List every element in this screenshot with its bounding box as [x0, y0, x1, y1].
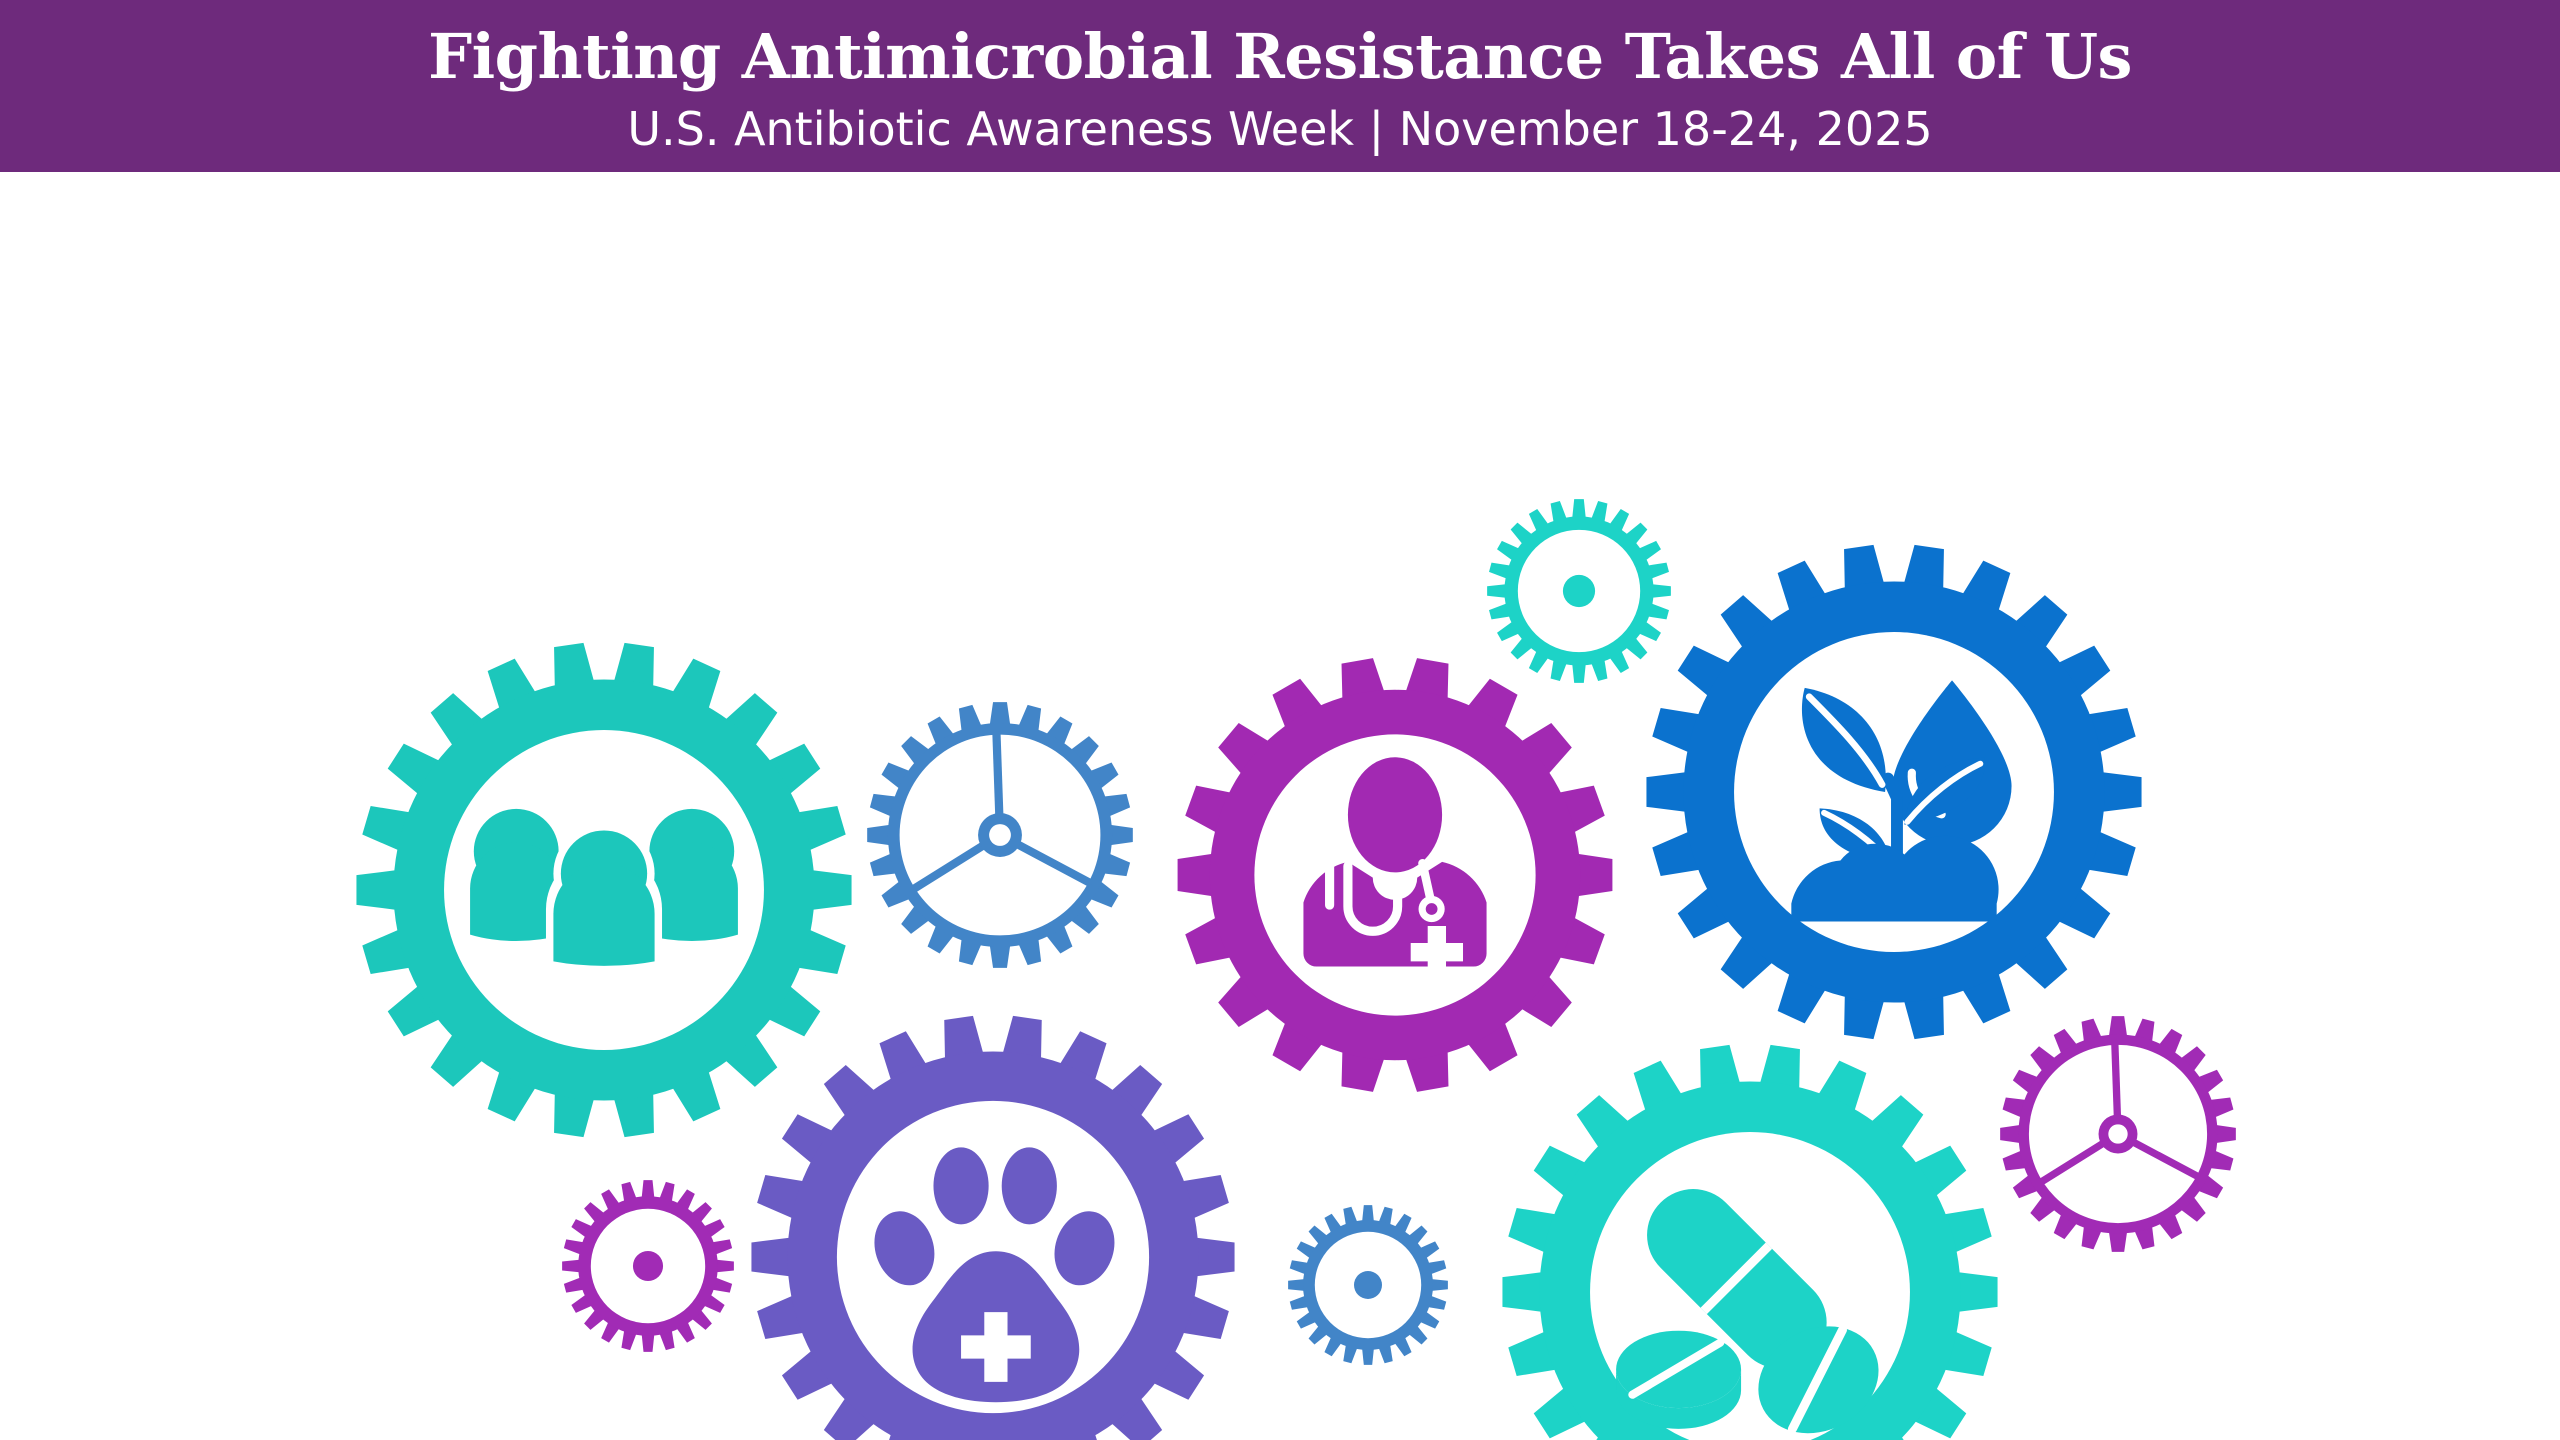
- gear-illustration: [0, 172, 2560, 1440]
- page-subtitle: U.S. Antibiotic Awareness Week | Novembe…: [627, 104, 1932, 155]
- gear-dot-blue-hub-dot: [1354, 1271, 1382, 1299]
- gear-spoke-blue-hub-hole: [989, 824, 1011, 846]
- gear-dot-teal-hub-dot: [1563, 575, 1595, 607]
- gear-dot-teal: [1487, 499, 1671, 683]
- header-banner: Fighting Antimicrobial Resistance Takes …: [0, 0, 2560, 172]
- gear-dot-purple-hub-dot: [633, 1251, 663, 1281]
- poster-canvas: Fighting Antimicrobial Resistance Takes …: [0, 0, 2560, 1440]
- gear-spoke-purple-hub-hole: [2108, 1124, 2127, 1143]
- gear-spoke-blue: [867, 702, 1133, 968]
- page-title: Fighting Antimicrobial Resistance Takes …: [428, 24, 2132, 90]
- gear-doctor: [1178, 658, 1613, 1092]
- gear-dot-purple: [562, 1180, 734, 1352]
- gears-layer: [356, 499, 2235, 1440]
- gear-spoke-purple: [2000, 1016, 2236, 1252]
- gear-illustration-area: [0, 172, 2560, 1440]
- gear-dot-blue: [1288, 1205, 1448, 1365]
